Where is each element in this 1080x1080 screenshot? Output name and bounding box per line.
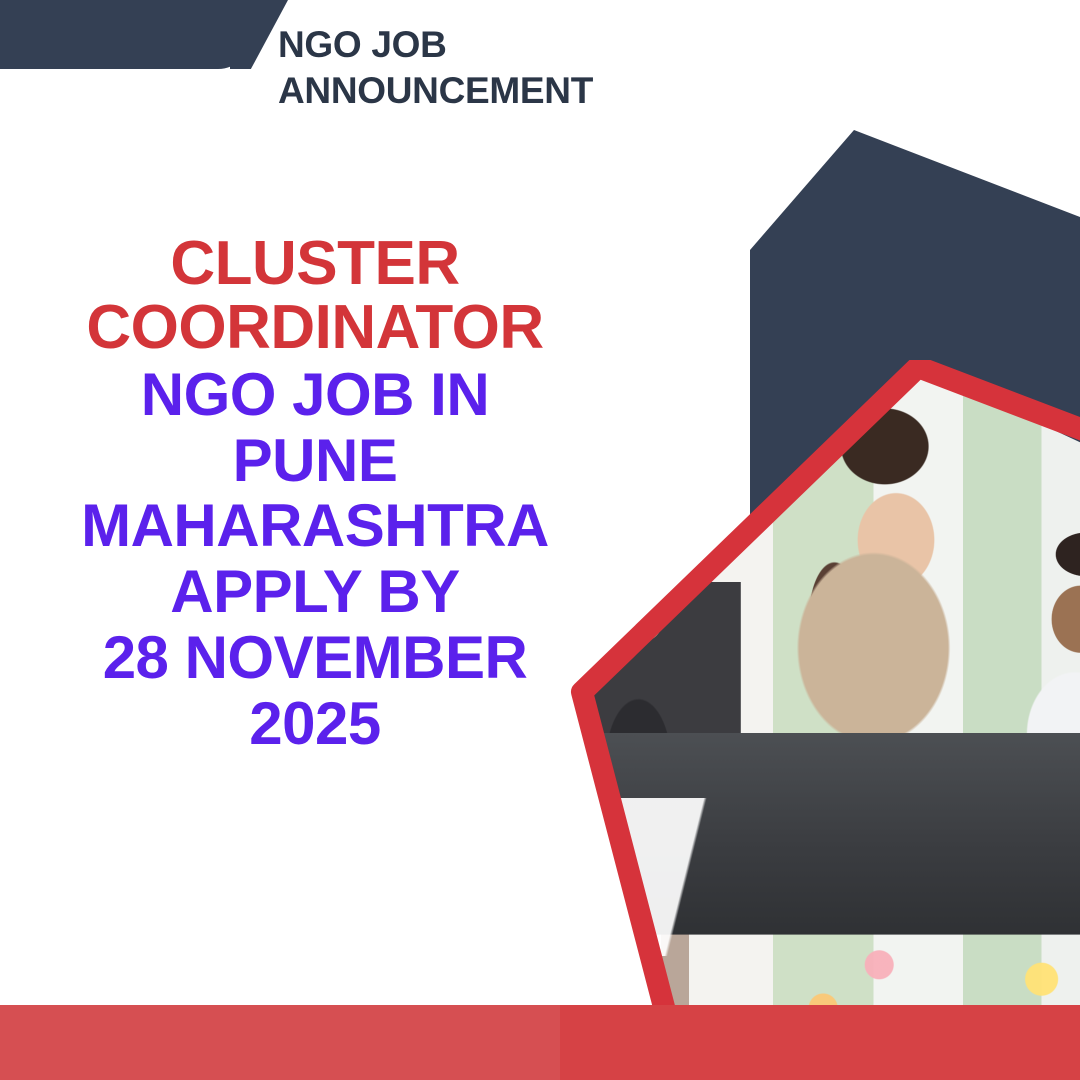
detail-line-2: PUNE	[60, 430, 570, 492]
team-collaboration-photo	[560, 360, 1080, 1080]
detail-line-1: NGO JOB IN	[60, 364, 570, 426]
photo-frame	[560, 360, 1080, 1080]
top-left-navy-band	[0, 0, 252, 69]
photo-clip	[560, 360, 1080, 1080]
kicker-line-2: ANNOUNCEMENT	[278, 68, 698, 114]
announcement-kicker: NGO JOB ANNOUNCEMENT	[278, 22, 698, 115]
detail-line-3: MAHARASHTRA	[60, 495, 570, 557]
detail-line-6: 2025	[60, 693, 570, 755]
job-announcement-poster: NGO JOB ANNOUNCEMENT CLUSTER COORDINATOR…	[0, 0, 1080, 1080]
page-title: CLUSTER COORDINATOR NGO JOB IN PUNE MAHA…	[60, 232, 570, 755]
kicker-line-1: NGO JOB	[278, 22, 698, 68]
role-line-1: CLUSTER	[60, 232, 570, 296]
role-line-2: COORDINATOR	[60, 296, 570, 360]
footer-red-bar-overlay	[560, 1005, 1080, 1080]
detail-line-5: 28 NOVEMBER	[60, 627, 570, 689]
detail-line-4: APPLY BY	[60, 561, 570, 623]
